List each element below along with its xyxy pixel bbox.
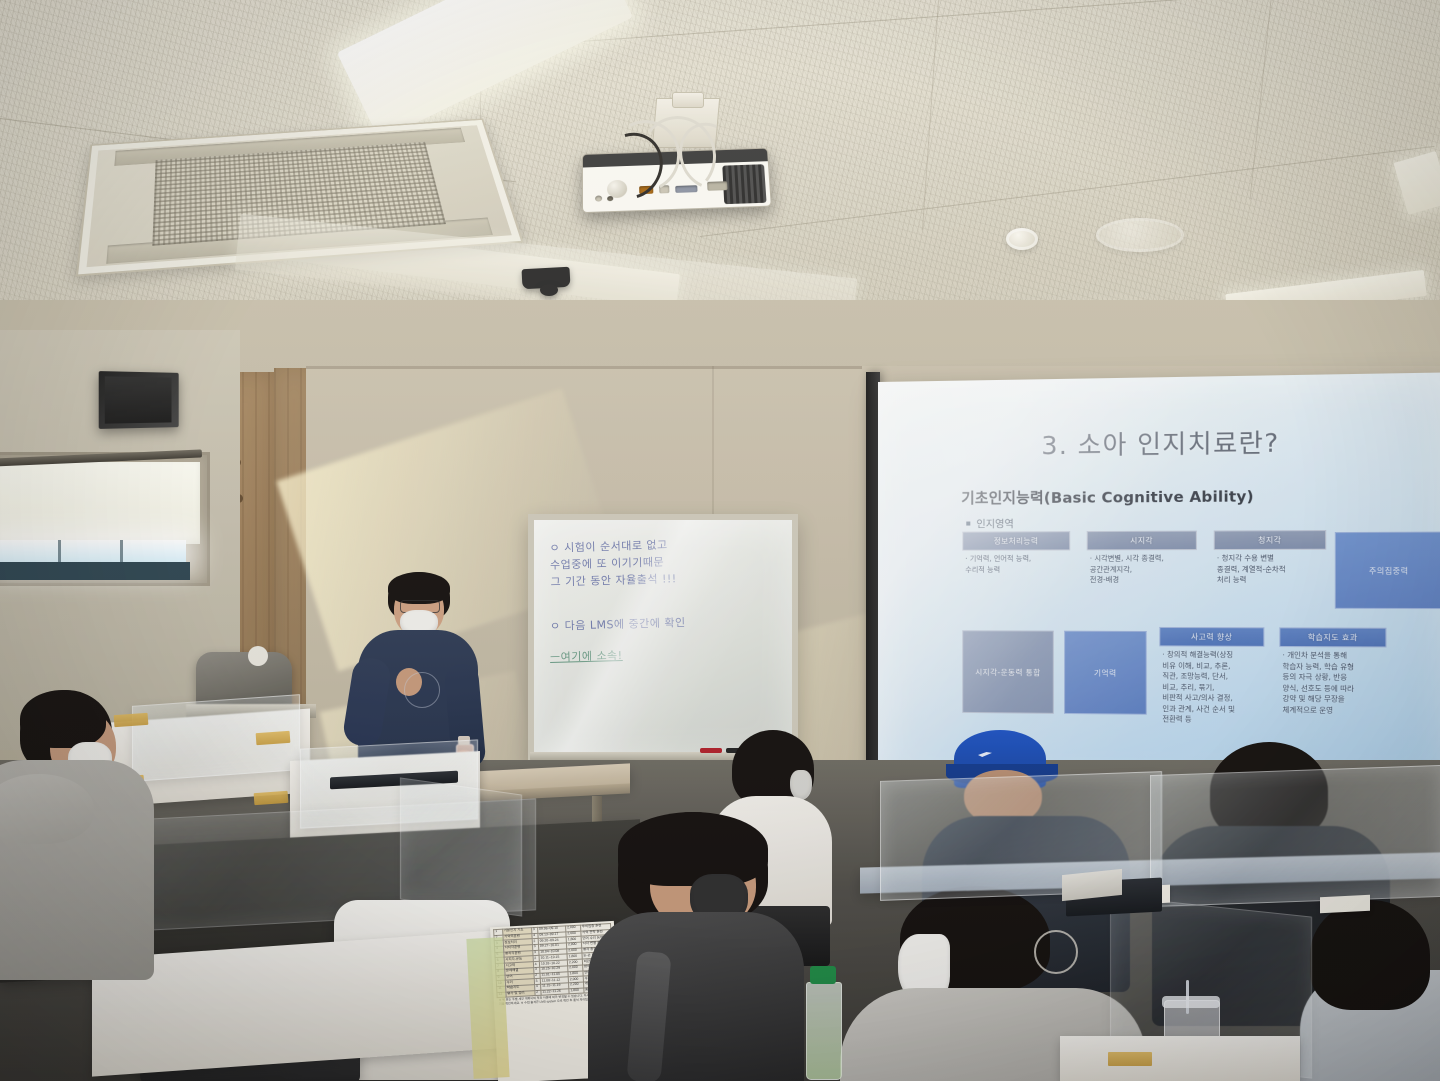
student-face-mask [790,770,812,800]
handout-backing-paper [466,937,509,1079]
desk-bottom-right [1060,1036,1300,1081]
projector-indicator [595,195,602,201]
slide-box-header: 정보처리능력 [962,531,1070,551]
speaker-grille [105,376,172,423]
window-sash [0,562,190,580]
window-mullion [120,540,123,564]
bottle-cap [810,966,836,984]
slide-box-header: 학습지도 효과 [1279,627,1386,647]
wall-speaker [99,371,179,429]
slide-subtitle: 기초인지능력(Basic Cognitive Ability) [961,485,1254,508]
student-black-bowl-cut [608,812,788,1081]
window-glass [0,540,186,564]
slide-box-desc: · 시각변별, 시각 종결력, 공간관계지각, 전경-배경 [1090,553,1197,585]
bullet-square-icon [966,522,970,526]
student-far-right-hair [1310,900,1430,1010]
slide-box-auditory-perception: 청지각 · 청지각 수용 변별 종결력, 계열적-순차적 처리 능력 [1214,530,1327,621]
slide-box-visual-perception: 시지각 · 시각변별, 시각 종결력, 공간관계지각, 전경-배경 [1087,531,1197,621]
presenter-shirt-logo [404,672,440,708]
shield-tape [254,791,289,805]
student-torso [588,912,804,1081]
acrylic-shield-vertical [400,777,522,916]
paper-on-desk [1320,895,1370,914]
slide-box-desc: · 기억력, 언어적 능력, 수리적 능력 [965,554,1070,575]
slide-solidbox-attention: 주의집중력 [1335,532,1440,609]
slide-box-header: 청지각 [1214,530,1327,550]
whiteboard-text-line2: ㅇ 다음 LMS에 중간에 확인 [550,614,686,635]
slide-box-desc: · 창의적 해결능력(상징 비유 이해, 비교, 추론, 직관, 조망능력, 단… [1162,649,1264,725]
tumbler-lid [1162,996,1220,1008]
slide-solidbox-visuomotor: 시지각-운동력 통합 [962,630,1054,714]
water-bottle [806,982,842,1080]
whiteboard: ㅇ 시험이 순서대로 없고 수업중에 또 이기기때문 그 기간 동안 자율출석 … [528,514,798,766]
projector-mount-plate [672,92,704,108]
classroom-photo-scene: ㅇ 시험이 순서대로 없고 수업중에 또 이기기때문 그 기간 동안 자율출석 … [0,0,1440,1081]
student-grey-hoodie [0,690,144,990]
ceiling-speaker-icon [1096,218,1184,252]
smoke-detector-icon [1006,228,1038,250]
ceiling-sensor-dome-icon [540,284,558,296]
slide-title: 3. 소아 인지치료란? [878,421,1440,464]
whiteboard-text-line3: ㅡ여기에 소속! [550,647,623,666]
whiteboard-text-line1: ㅇ 시험이 순서대로 없고 수업중에 또 이기기때문 그 기간 동안 자율출석 … [549,536,677,591]
slide-box-desc: · 개인차 분석을 통해 학습자 능력, 학습 유형 등의 자극 상황, 반응 … [1282,650,1386,716]
projector-indicator [607,196,613,201]
wall-seam [306,366,866,369]
slide-box-info-processing: 정보처리능력 · 기억력, 언어적 능력, 수리적 능력 [962,531,1070,620]
shield-tape [256,731,291,745]
slide-box-learning-guidance: 학습지도 효과 · 개인차 분석을 통해 학습자 능력, 학습 유형 등의 자극… [1279,627,1386,717]
face-shield-strap-icon [1034,930,1078,974]
window-blind [0,462,200,544]
student-hair-front [20,690,106,748]
window-mullion [58,540,61,564]
bag-handle-icon [248,646,268,666]
slide-box-header: 시지각 [1087,531,1197,551]
slide-box-header: 사고력 향상 [1159,627,1264,647]
desk-tape [1108,1052,1152,1066]
slide-box-grid: 정보처리능력 · 기억력, 언어적 능력, 수리적 능력 시지각 · 시각변별,… [962,530,1371,717]
slide-box-thinking: 사고력 향상 · 창의적 해결능력(상징 비유 이해, 비교, 추론, 직관, … [1159,627,1264,716]
slide-solidbox-memory: 기억력 [1064,631,1147,715]
slide-bullet: 인지영역 [966,515,1013,530]
student-hair-fringe [618,812,768,886]
slide-bullet-label: 인지영역 [976,519,1013,530]
slide-box-desc: · 청지각 수용 변별 종결력, 계열적-순차적 처리 능력 [1217,553,1326,586]
acrylic-shield [1150,765,1440,907]
